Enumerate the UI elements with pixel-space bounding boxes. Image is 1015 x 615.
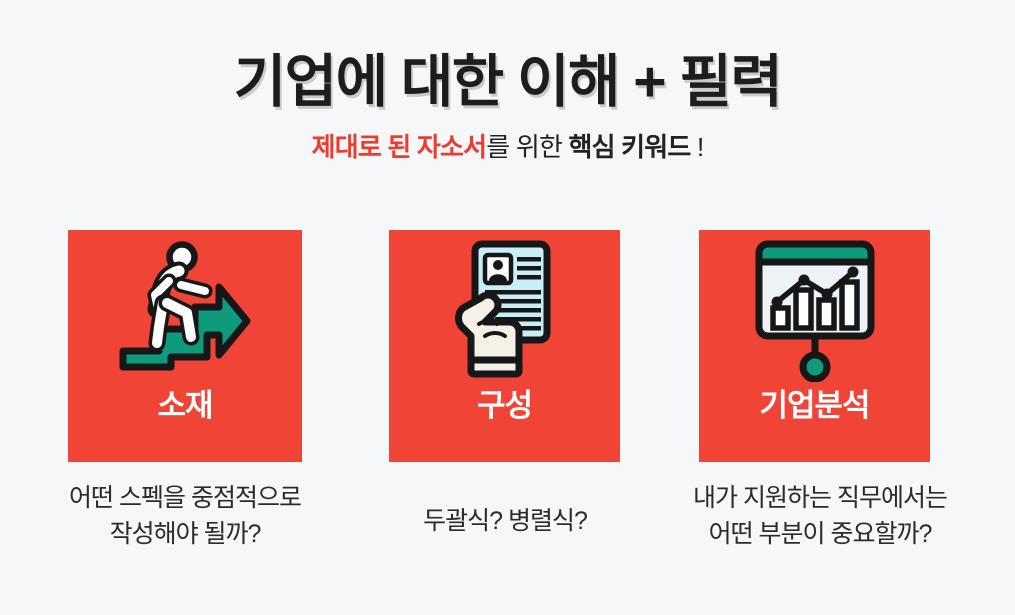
- header-block: 기업에 대한 이해 + 필력 제대로 된 자소서를 위한 핵심 키워드 !: [0, 0, 1015, 163]
- card-label: 구성: [477, 390, 532, 421]
- subtitle-light-text: 를 위한: [486, 132, 568, 162]
- card-gieop-bunseok[interactable]: 기업분석: [699, 230, 930, 462]
- card-label: 기업분석: [759, 390, 869, 421]
- card-icon-wrapper: [68, 230, 302, 380]
- caption-so-jae: 어떤 스펙을 중점적으로 작성해야 될까?: [12, 481, 358, 552]
- page-title: 기업에 대한 이해 + 필력: [0, 0, 1015, 114]
- infographic-canvas: 기업에 대한 이해 + 필력 제대로 된 자소서를 위한 핵심 키워드 !: [0, 0, 1015, 615]
- card-so-jae[interactable]: 소재: [68, 230, 302, 462]
- caption-line: 내가 지원하는 직무에서는: [640, 481, 1000, 517]
- caption-line: 어떤 부분이 중요할까?: [640, 517, 1000, 553]
- subtitle-bold-text: 핵심 키워드: [569, 132, 691, 162]
- card-row: 소재: [0, 230, 1015, 462]
- caption-row: 어떤 스펙을 중점적으로 작성해야 될까? 두괄식? 병렬식? 내가 지원하는 …: [0, 481, 1015, 591]
- card-icon-wrapper: [389, 230, 620, 380]
- caption-gu-seong: 두괄식? 병렬식?: [360, 504, 650, 540]
- hand-holding-resume-icon: [449, 240, 561, 382]
- subtitle-suffix: !: [691, 132, 704, 162]
- card-gu-seong[interactable]: 구성: [389, 230, 620, 462]
- person-climbing-stairs-arrow-icon: [119, 241, 251, 381]
- caption-line: 두괄식? 병렬식?: [360, 504, 650, 540]
- subtitle-accent-text: 제대로 된 자소서: [312, 132, 487, 162]
- card-icon-wrapper: [699, 230, 930, 380]
- caption-line: 작성해야 될까?: [12, 517, 358, 553]
- caption-gieop-bunseok: 내가 지원하는 직무에서는 어떤 부분이 중요할까?: [640, 481, 1000, 552]
- page-subtitle: 제대로 된 자소서를 위한 핵심 키워드 !: [0, 114, 1015, 164]
- card-label: 소재: [157, 390, 212, 421]
- caption-line: 어떤 스펙을 중점적으로: [12, 481, 358, 517]
- presentation-chart-board-icon: [753, 240, 877, 382]
